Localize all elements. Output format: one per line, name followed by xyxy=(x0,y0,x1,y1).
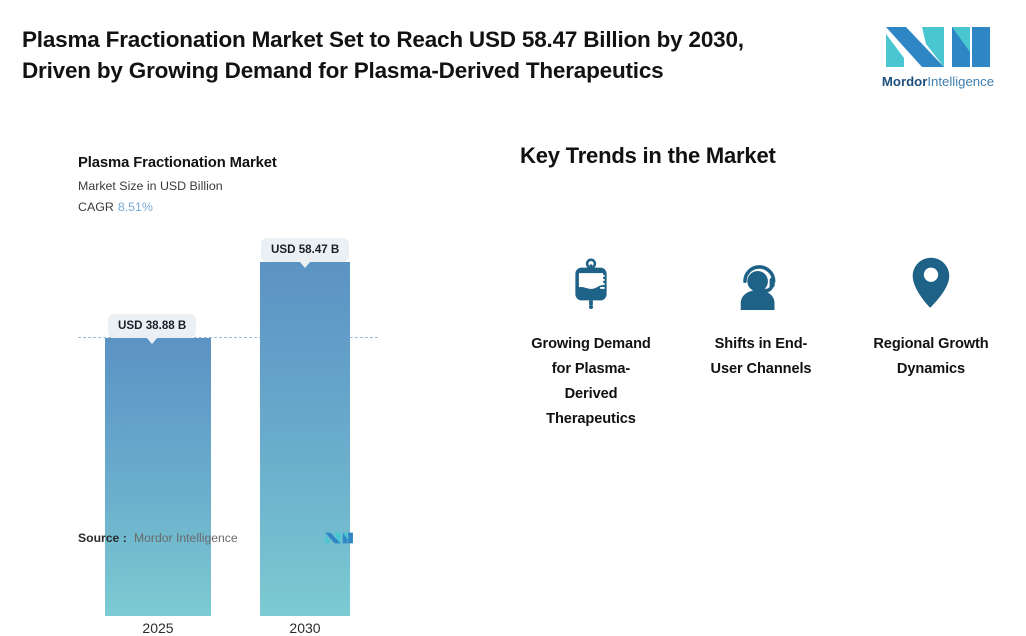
header: Plasma Fractionation Market Set to Reach… xyxy=(0,0,1026,110)
brand-name-bold: Mordor xyxy=(882,74,927,89)
brand-wordmark: MordorIntelligence xyxy=(878,74,998,90)
bar-value-label-2025: USD 38.88 B xyxy=(108,314,196,338)
trend-item-1: Growing Demand for Plasma-Derived Therap… xyxy=(506,248,676,432)
key-trends-heading: Key Trends in the Market xyxy=(520,143,776,169)
key-trends-panel: Key Trends in the Market xyxy=(470,128,1026,558)
mordor-intelligence-monogram-icon xyxy=(324,527,354,549)
iv-drip-bag-icon xyxy=(559,248,623,310)
mordor-intelligence-monogram-icon xyxy=(882,22,994,72)
key-trends-list: Growing Demand for Plasma-Derived Therap… xyxy=(506,248,1016,432)
headset-support-agent-icon xyxy=(729,248,793,310)
chart-panel: Plasma Fractionation Market Market Size … xyxy=(0,128,470,558)
trend-item-3: Regional Growth Dynamics xyxy=(846,248,1016,432)
bar-2025 xyxy=(105,338,211,616)
bar-chart-plot: USD 38.88 B USD 58.47 B 2025 2030 xyxy=(0,128,470,528)
source-value: Mordor Intelligence xyxy=(134,531,238,545)
x-axis-tick-2025: 2025 xyxy=(105,620,211,636)
brand-logo: MordorIntelligence xyxy=(878,22,998,98)
page-title: Plasma Fractionation Market Set to Reach… xyxy=(22,24,862,86)
source-row: Source : Mordor Intelligence xyxy=(78,527,378,553)
brand-name-light: Intelligence xyxy=(927,74,994,89)
source-label: Source : xyxy=(78,531,127,545)
trend-label-1: Growing Demand for Plasma-Derived Therap… xyxy=(529,332,653,432)
location-pin-icon xyxy=(899,248,963,310)
bar-value-label-2030: USD 58.47 B xyxy=(261,238,349,262)
trend-label-3: Regional Growth Dynamics xyxy=(869,332,993,382)
trend-item-2: Shifts in End-User Channels xyxy=(676,248,846,432)
bar-2030 xyxy=(260,262,350,616)
trend-label-2: Shifts in End-User Channels xyxy=(699,332,823,382)
x-axis-tick-2030: 2030 xyxy=(260,620,350,636)
